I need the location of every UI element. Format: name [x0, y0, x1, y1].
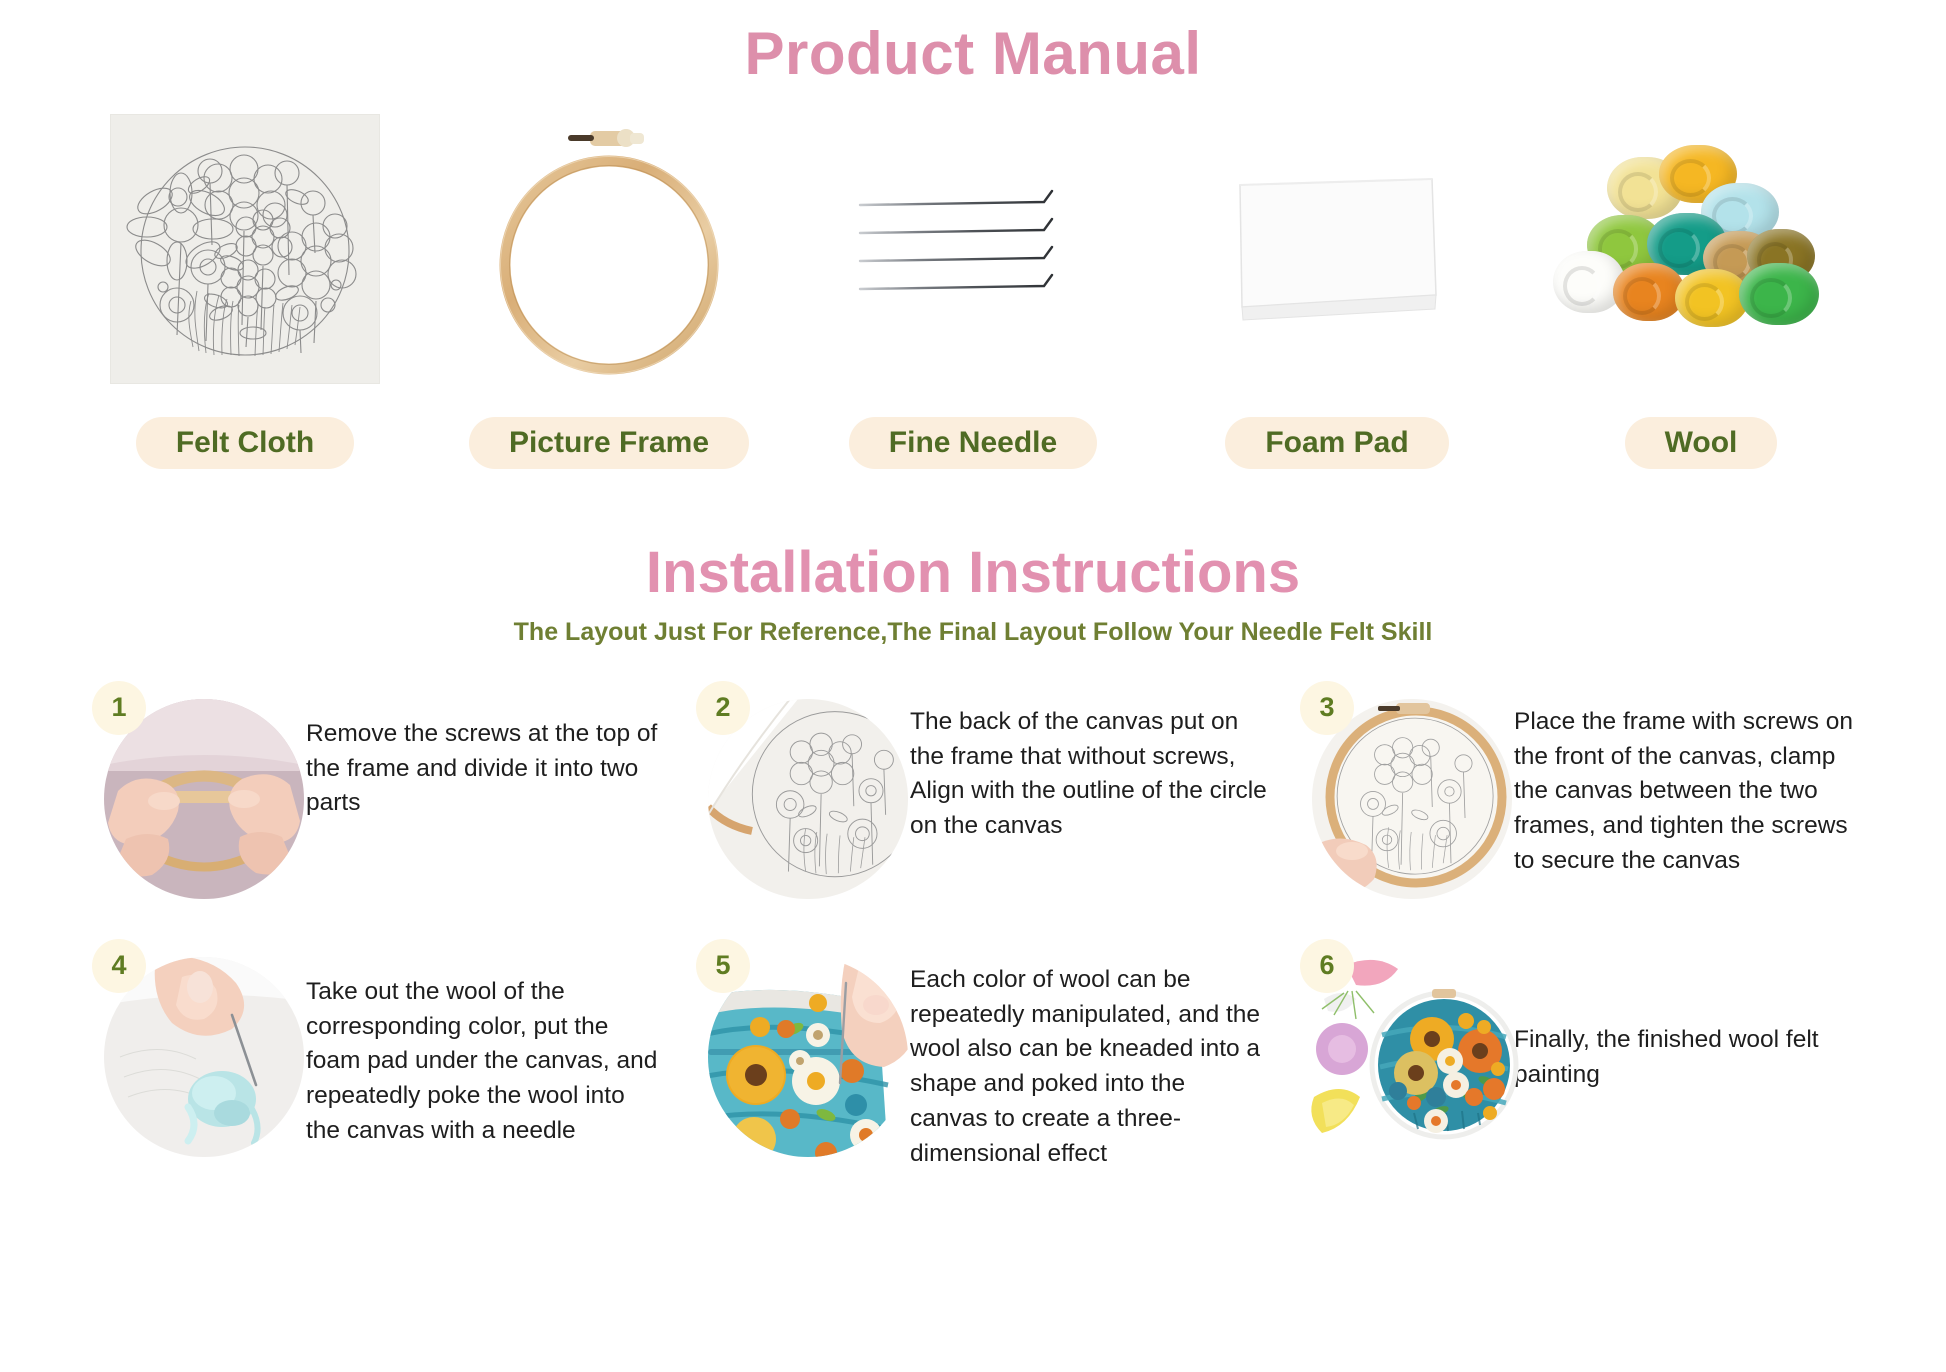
- step-badge: 6: [1300, 939, 1354, 993]
- component-wool: [1536, 99, 1866, 399]
- step-4: 4 Take out the wool of the corresponding…: [74, 939, 664, 1172]
- foam-pad-art: [1172, 99, 1502, 399]
- step-6-visual: 6: [1282, 939, 1514, 1171]
- step-1-text: Remove the screws at the top of the fram…: [306, 681, 664, 821]
- component-fine-needle: [808, 99, 1138, 399]
- step-badge: 1: [92, 681, 146, 735]
- step-2-text: The back of the canvas put on the frame …: [910, 681, 1268, 844]
- steps-row-top: 1 Remove the screws at the top of the fr…: [74, 681, 1872, 913]
- section-subtitle: The Layout Just For Reference,The Final …: [0, 618, 1946, 647]
- wool-roll: [1613, 263, 1685, 321]
- wool-rolls-icon: [1551, 139, 1851, 359]
- step-2: 2 The back of the canvas put on the fram…: [678, 681, 1268, 913]
- component-foam-pad: [1172, 99, 1502, 399]
- label-foam-pad: Foam Pad: [1225, 417, 1448, 469]
- picture-frame-art: [444, 99, 774, 399]
- label-picture-frame: Picture Frame: [469, 417, 749, 469]
- step-2-visual: 2: [678, 681, 910, 913]
- step-3-text: Place the frame with screws on the front…: [1514, 681, 1872, 879]
- component-felt-cloth: [80, 99, 410, 399]
- step-6: 6 Finally, the finished wool felt painti…: [1282, 939, 1872, 1172]
- step-3-visual: 3: [1282, 681, 1514, 913]
- label-fine-needle: Fine Needle: [849, 417, 1097, 469]
- label-wool: Wool: [1625, 417, 1778, 469]
- step-4-text: Take out the wool of the corresponding c…: [306, 939, 664, 1149]
- step-1-visual: 1: [74, 681, 306, 913]
- step-badge: 4: [92, 939, 146, 993]
- felting-needles-icon: [858, 189, 1088, 309]
- foam-pad-icon: [1232, 169, 1442, 329]
- felt-cloth-art: [80, 99, 410, 399]
- step-5-visual: 5: [678, 939, 910, 1171]
- steps-row-bottom: 4 Take out the wool of the corresponding…: [74, 939, 1872, 1172]
- component-picture-frame: [444, 99, 774, 399]
- step-6-text: Finally, the finished wool felt painting: [1514, 939, 1872, 1093]
- step-badge: 2: [696, 681, 750, 735]
- step-4-visual: 4: [74, 939, 306, 1171]
- step-badge: 5: [696, 939, 750, 993]
- fine-needle-art: [808, 99, 1138, 399]
- step-1: 1 Remove the screws at the top of the fr…: [74, 681, 664, 913]
- step-badge: 3: [1300, 681, 1354, 735]
- installation-steps: 1 Remove the screws at the top of the fr…: [0, 681, 1946, 1172]
- step-5-text: Each color of wool can be repeatedly man…: [910, 939, 1268, 1172]
- components-row: [0, 99, 1946, 399]
- felt-cloth-icon: [111, 115, 379, 383]
- wool-art: [1536, 99, 1866, 399]
- step-3: 3 Place the frame with screws on the fro…: [1282, 681, 1872, 913]
- embroidery-hoop-icon: [494, 117, 724, 382]
- section-title: Installation Instructions: [0, 543, 1946, 604]
- step-5: 5 Each color of wool can be repeatedly m…: [678, 939, 1268, 1172]
- wool-roll: [1675, 269, 1749, 327]
- label-felt-cloth: Felt Cloth: [136, 417, 354, 469]
- component-labels-row: Felt Cloth Picture Frame Fine Needle Foa…: [0, 417, 1946, 469]
- wool-roll: [1739, 263, 1819, 325]
- page-title: Product Manual: [0, 0, 1946, 85]
